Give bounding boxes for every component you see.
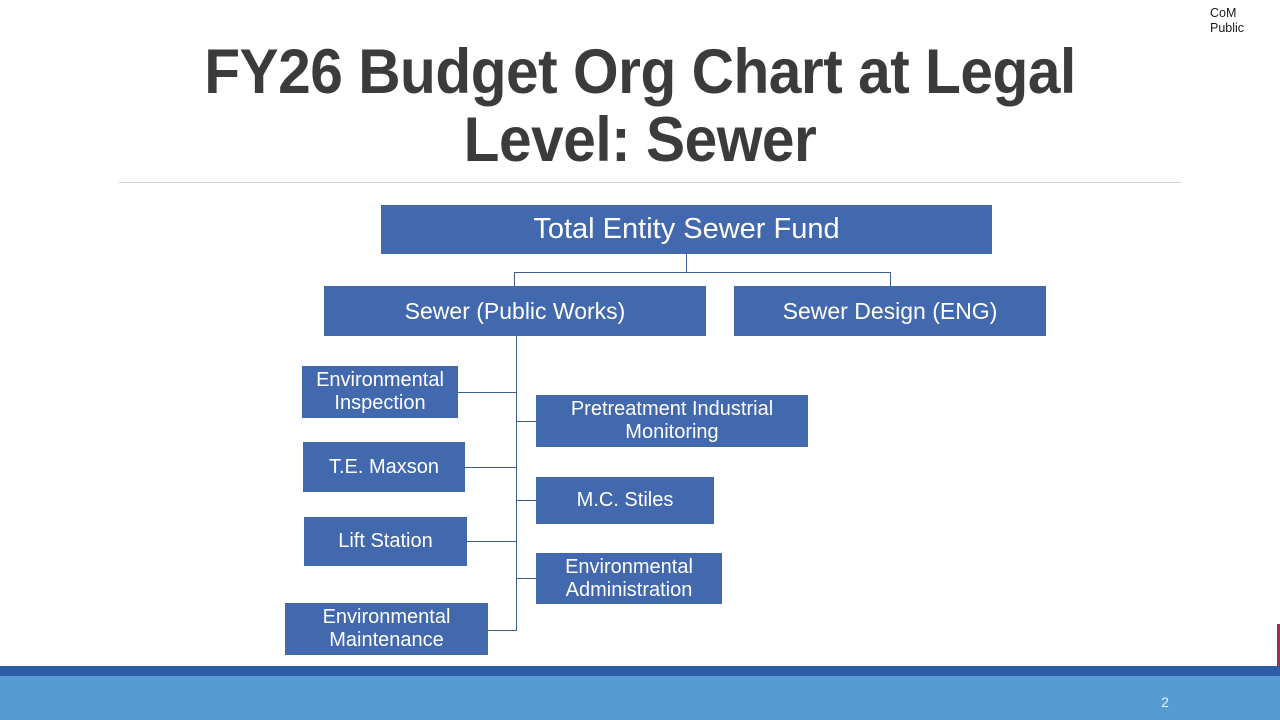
connector-stub-pretreatment-industrial-monitoring	[516, 421, 537, 422]
org-node-sewer-design-eng: Sewer Design (ENG)	[734, 286, 1046, 336]
footer-divider-band	[0, 666, 1280, 676]
slide-edge-accent-gap	[1275, 624, 1277, 666]
connector-drop-sewer-public-works	[514, 272, 515, 287]
org-node-lift-station: Lift Station	[304, 517, 467, 566]
slide-canvas: CoM Public FY26 Budget Org Chart at Lega…	[0, 0, 1280, 720]
connector-stub-mc-stiles	[516, 500, 537, 501]
org-node-environmental-maintenance: Environmental Maintenance	[285, 603, 488, 655]
connector-stub-environmental-inspection	[458, 392, 517, 393]
org-node-mc-stiles: M.C. Stiles	[536, 477, 714, 524]
org-node-sewer-public-works: Sewer (Public Works)	[324, 286, 706, 336]
org-node-total-entity-sewer-fund: Total Entity Sewer Fund	[381, 205, 992, 254]
connector-stub-te-maxson	[465, 467, 517, 468]
slide-title: FY26 Budget Org Chart at Legal Level: Se…	[119, 38, 1161, 174]
classification-line-2: Public	[1210, 21, 1266, 36]
classification-marking: CoM Public	[1210, 6, 1266, 36]
connector-stub-environmental-administration	[516, 578, 537, 579]
connector-stub-environmental-maintenance	[488, 630, 517, 631]
connector-drop-sewer-design	[890, 272, 891, 287]
connector-level1-bus	[514, 272, 891, 273]
connector-root-stem	[686, 254, 687, 272]
classification-line-1: CoM	[1210, 6, 1266, 21]
footer-bar	[0, 676, 1280, 720]
connector-stub-lift-station	[467, 541, 517, 542]
org-node-pretreatment-industrial-monitoring: Pretreatment Industrial Monitoring	[536, 395, 808, 447]
connector-spine-sewer-public-works	[516, 336, 517, 631]
page-number: 2	[1130, 694, 1200, 710]
org-node-environmental-inspection: Environmental Inspection	[302, 366, 458, 418]
title-divider-rule	[119, 182, 1181, 183]
org-node-environmental-administration: Environmental Administration	[536, 553, 722, 604]
org-node-te-maxson: T.E. Maxson	[303, 442, 465, 492]
